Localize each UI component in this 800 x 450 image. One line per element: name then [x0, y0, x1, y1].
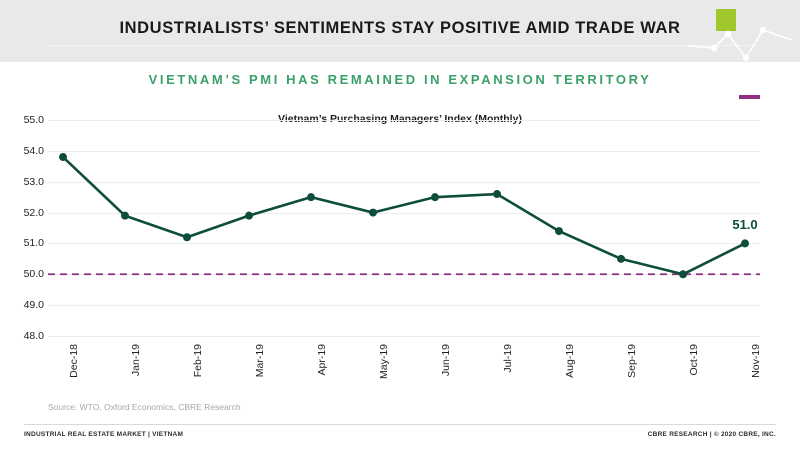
- x-axis-tick-label: May-19: [378, 344, 390, 379]
- data-point-marker[interactable]: [369, 209, 377, 217]
- footer-right-label: CBRE RESEARCH | © 2020 CBRE, INC.: [648, 431, 776, 438]
- slide: INDUSTRIALISTS’ SENTIMENTS STAY POSITIVE…: [0, 0, 800, 450]
- x-axis-tick-label: Dec-18: [68, 344, 80, 378]
- chart-series-line: [48, 120, 760, 336]
- data-point-marker[interactable]: [493, 190, 501, 198]
- threshold-legend-dash-icon: [739, 95, 760, 99]
- x-axis-tick-label: Jul-19: [502, 344, 514, 373]
- footer-left-label: INDUSTRIAL REAL ESTATE MARKET | VIETNAM: [24, 431, 183, 438]
- series-polyline: [63, 157, 745, 274]
- page-title: INDUSTRIALISTS’ SENTIMENTS STAY POSITIVE…: [0, 19, 800, 38]
- y-axis-tick-label: 48.0: [0, 330, 44, 342]
- x-axis-tick-label: Feb-19: [192, 344, 204, 377]
- x-axis-tick-label: Jan-19: [130, 344, 142, 376]
- x-axis-tick-label: Mar-19: [254, 344, 266, 377]
- x-axis-tick-label: Jun-19: [440, 344, 452, 376]
- y-axis-tick-label: 50.0: [0, 268, 44, 280]
- data-point-marker[interactable]: [555, 227, 563, 235]
- y-axis-tick-label: 53.0: [0, 176, 44, 188]
- chart-plot-area: 55.054.053.052.051.050.049.048.0 Dec-18J…: [48, 120, 760, 336]
- y-axis-tick-label: 55.0: [0, 114, 44, 126]
- data-point-marker[interactable]: [741, 239, 749, 247]
- data-point-marker[interactable]: [183, 233, 191, 241]
- data-point-marker[interactable]: [245, 212, 253, 220]
- data-point-marker[interactable]: [617, 255, 625, 263]
- slide-header: INDUSTRIALISTS’ SENTIMENTS STAY POSITIVE…: [0, 0, 800, 62]
- y-axis-tick-label: 52.0: [0, 207, 44, 219]
- x-axis-tick-label: Apr-19: [316, 344, 328, 376]
- x-axis-tick-label: Oct-19: [688, 344, 700, 376]
- data-point-marker[interactable]: [431, 193, 439, 201]
- data-point-marker[interactable]: [121, 212, 129, 220]
- x-axis-tick-label: Nov-19: [750, 344, 762, 378]
- data-point-label: 51.0: [732, 217, 757, 232]
- data-point-marker[interactable]: [307, 193, 315, 201]
- y-axis-tick-label: 51.0: [0, 237, 44, 249]
- x-axis-tick-label: Sep-19: [626, 344, 638, 378]
- data-point-marker[interactable]: [59, 153, 67, 161]
- header-divider: [48, 45, 758, 46]
- source-note: Source: WTO, Oxford Economics, CBRE Rese…: [48, 402, 241, 412]
- gridline: [48, 336, 760, 337]
- data-point-marker[interactable]: [679, 270, 687, 278]
- zigzag-line-icon: [688, 24, 800, 62]
- y-axis-tick-label: 49.0: [0, 299, 44, 311]
- slide-subtitle: VIETNAM’S PMI HAS REMAINED IN EXPANSION …: [0, 72, 800, 87]
- y-axis-tick-label: 54.0: [0, 145, 44, 157]
- x-axis-tick-label: Aug-19: [564, 344, 576, 378]
- footer-divider: [24, 424, 776, 425]
